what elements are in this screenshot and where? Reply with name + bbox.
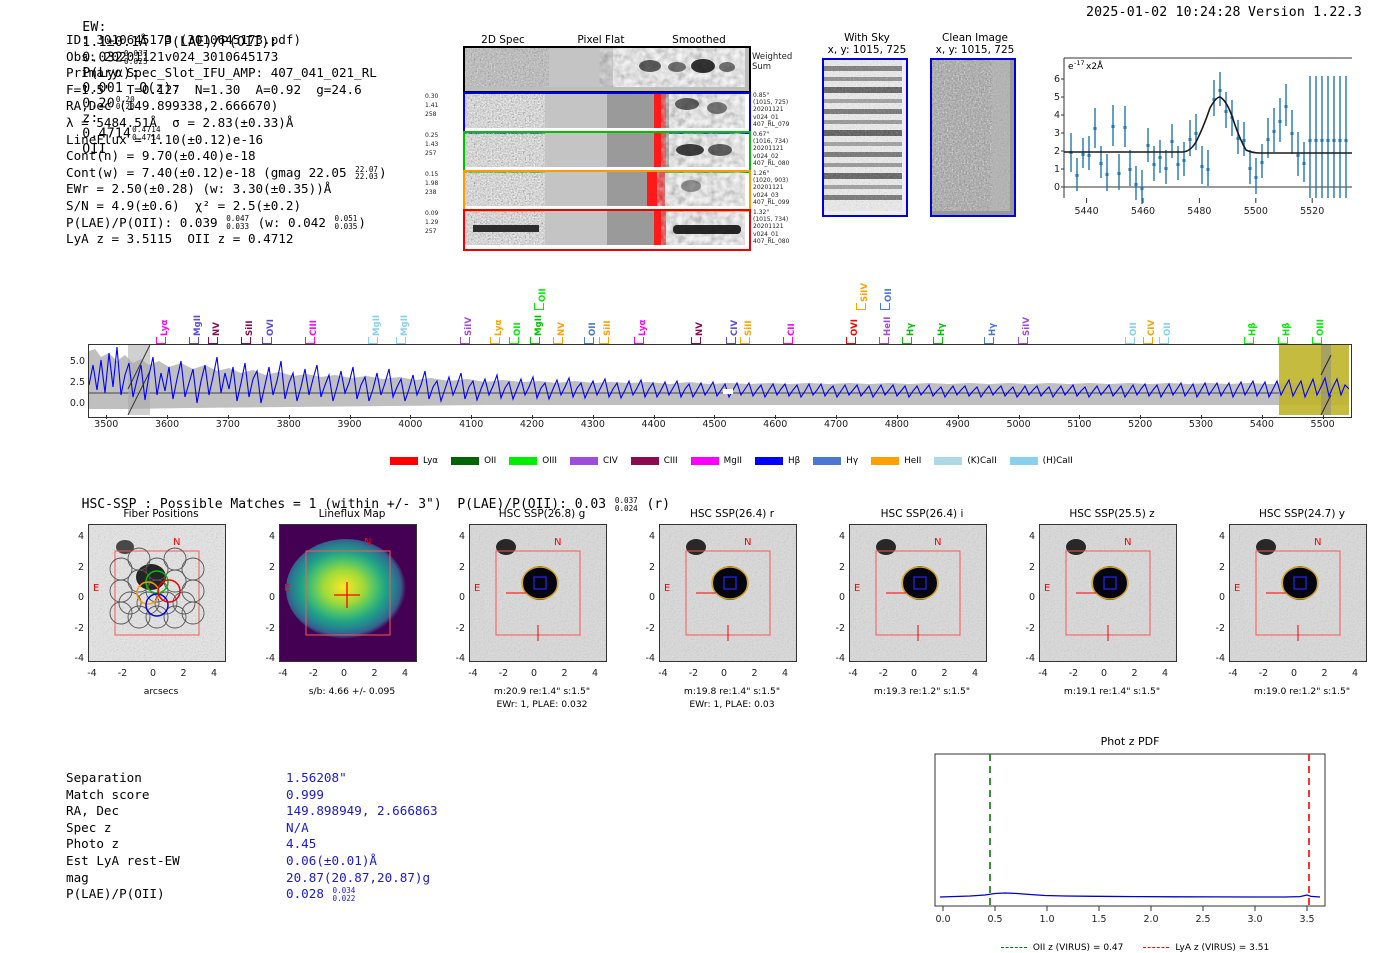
spectrum-line-marker-label: SiIV [860, 283, 870, 302]
spectrum-line-marker-bracket [902, 337, 912, 344]
fiber-meta: 0.67" (1016, 734) 20201121 v024_02 407_R… [753, 131, 789, 167]
cutout-xtick: 4 [585, 668, 605, 679]
cutout-xtick: 2 [935, 668, 955, 679]
match-table-value: 0.028 0.0340.022 [286, 886, 586, 903]
compass-e-label: E [93, 583, 99, 594]
svg-text:4: 4 [1054, 110, 1060, 121]
spectrum-xtick: 4300 [573, 419, 613, 430]
legend-swatch [509, 457, 537, 465]
cutout-xtick: -2 [304, 668, 324, 679]
spectrum-line-marker-bracket [1143, 337, 1153, 344]
compass-e-label: E [284, 583, 290, 594]
spectrum-line-marker-label: CII [787, 323, 797, 336]
cutout-xtick: -2 [874, 668, 894, 679]
svg-text:1.5: 1.5 [1091, 914, 1106, 925]
spectrum-line-marker-label: CIII [309, 320, 319, 336]
spectrum-line-marker: NV [557, 322, 567, 336]
cutout-caption: s/b: 4.66 +/- 0.095 [256, 686, 448, 697]
spectrum-line-marker: OII [884, 288, 894, 302]
cutout-xtick: 4 [775, 668, 795, 679]
cutout-ytick: 4 [65, 531, 84, 542]
cutout-ytick: -4 [446, 653, 465, 664]
match-table-value: 4.45 [286, 836, 586, 853]
match-table-value: 0.999 [286, 787, 586, 804]
cutout-ytick: 0 [636, 592, 655, 603]
cutout-ytick: -2 [1206, 623, 1225, 634]
spectrum-xticks: 3500360037003800390040004100420043004400… [88, 419, 1350, 435]
photz-svg: 0.00.51.0 1.52.02.5 3.03.5 [930, 750, 1330, 940]
match-table-key: RA, Dec [66, 803, 276, 820]
cutout-image[interactable]: NE [88, 524, 226, 662]
spectrum-line-marker-label: SiII [744, 320, 754, 336]
spectrum-line-marker: Lyα [160, 320, 170, 336]
info-line-cont-w: Cont(w) = 7.40(±0.12)e-18 (gmag 22.05 22… [66, 165, 387, 182]
cutout-ytick: -2 [1016, 623, 1035, 634]
legend-swatch [631, 457, 659, 465]
cutout-panel[interactable]: HSC SSP(26.4) rNE420-2-4-4-2024m:19.8 re… [636, 508, 828, 662]
spectrum-xtick: 4800 [877, 419, 917, 430]
spectrum-legend-item: (H)CaII [1010, 456, 1073, 466]
spectrum-line-marker-label: OVI [850, 319, 860, 336]
spectrum-xtick-mark [1323, 415, 1324, 419]
detection-info-block: ID: 3010645173 (3010645173.pdf) Obs: 202… [66, 32, 387, 248]
cutout-title: Fiber Positions [65, 508, 257, 520]
compass-e-label: E [1234, 583, 1240, 594]
info-line-lambda-sigma: λ = 5484.51Å σ = 2.83(±0.33)Å [66, 115, 387, 132]
spectrum-line-marker-bracket [553, 337, 563, 344]
cutout-xtick: 0 [334, 668, 354, 679]
spectrum-xtick: 5200 [1120, 419, 1160, 430]
cutout-image[interactable]: NE [279, 524, 417, 662]
match-table-key: Spec z [66, 820, 276, 837]
legend-label: Hβ [788, 456, 800, 466]
spectrum-line-marker-bracket [984, 337, 994, 344]
fiber-meta: 1.26" (1020, 903) 20201121 v024_03 407_R… [753, 170, 789, 206]
cutout-caption-secondary: EWr: 1, PLAE: 0.032 [446, 699, 638, 710]
spectrum-line-marker-label: MgII [193, 315, 203, 336]
spectrum-ytick-0: 0.0 [57, 398, 85, 409]
cutout-xtick: -2 [1064, 668, 1084, 679]
cutout-ytick: 4 [446, 531, 465, 542]
spectrum-line-marker: Lyα [638, 320, 648, 336]
spectrum-line-marker: MgII [534, 315, 544, 336]
spectrum-line-marker: NV [695, 322, 705, 336]
legend-swatch [755, 457, 783, 465]
weighted-sum-label: Weighted Sum [752, 52, 792, 72]
spectrum-xtick-mark [593, 415, 594, 419]
spectrum-line-marker-label: Hβ [1282, 323, 1292, 336]
fiber-meta: 1.32" (1015, 734) 20201121 v024_01 407_R… [753, 209, 789, 245]
spectrum-line-marker-bracket [368, 337, 378, 344]
legend-label: (H)CaII [1043, 456, 1073, 466]
legend-swatch [813, 457, 841, 465]
cutout-xtick: 4 [1345, 668, 1365, 679]
clean-image-coords: x, y: 1015, 725 [930, 44, 1020, 56]
spectrum-line-marker-bracket [396, 337, 406, 344]
cutout-ytick: 0 [256, 592, 275, 603]
spectrum-line-marker: SiII [245, 320, 255, 336]
legend-label: OII [484, 456, 496, 466]
cutout-ytick: 4 [1206, 531, 1225, 542]
cutout-ytick: -4 [65, 653, 84, 664]
fiber-weight: 0.09 [425, 210, 438, 217]
spectrum-line-marker-bracket [879, 337, 889, 344]
cutout-ytick: -2 [826, 623, 845, 634]
cutout-image[interactable]: NE [1229, 524, 1367, 662]
fiber-image [463, 170, 751, 212]
spectrum-line-marker-label: OII [538, 288, 548, 302]
compass-n-label: N [744, 537, 751, 548]
spectrum-xtick: 5300 [1181, 419, 1221, 430]
cutout-panel[interactable]: HSC SSP(26.8) gNE420-2-4-4-2024m:20.9 re… [446, 508, 638, 662]
cutout-caption: m:19.1 re:1.4" s:1.5" [1016, 686, 1208, 697]
cutout-ytick: 4 [826, 531, 845, 542]
spectrum-legend-item: Lyα [390, 456, 438, 466]
spectrum-line-marker: SiII [744, 320, 754, 336]
svg-text:1: 1 [1054, 164, 1060, 175]
cutout-xtick: 2 [365, 668, 385, 679]
spectrum-line-marker-bracket [634, 337, 644, 344]
legend-label: MgII [724, 456, 742, 466]
info-line-lineflux: LineFlux = 1.10(±0.12)e-16 [66, 132, 387, 149]
cutout-image[interactable]: NE [849, 524, 987, 662]
cutout-title: HSC SSP(26.8) g [446, 508, 638, 520]
spectrum-line-marker: Hγ [937, 323, 947, 336]
photz-legend: OII z (VIRUS) = 0.47LyA z (VIRUS) = 3.51 [940, 933, 1330, 953]
cutout-ytick: -2 [636, 623, 655, 634]
cutout-panel[interactable]: HSC SSP(26.4) iNE420-2-4-4-2024m:19.3 re… [826, 508, 1018, 662]
cutout-ytick: 2 [256, 562, 275, 573]
cutout-xtick: -4 [463, 668, 483, 679]
svg-text:2.0: 2.0 [1143, 914, 1158, 925]
spectrum-line-marker-label: OII [513, 322, 523, 336]
legend-swatch [934, 457, 962, 465]
cutout-xtick: 2 [1315, 668, 1335, 679]
cutout-xtick: -4 [273, 668, 293, 679]
spectrum-line-marker-label: CIV [730, 320, 740, 336]
svg-text:5: 5 [1054, 92, 1060, 103]
spectrum-legend-item: Hβ [755, 456, 800, 466]
spectrum-line-marker-bracket [584, 337, 594, 344]
spectrum-line-marker: OII [513, 322, 523, 336]
fiber-dist: 1.43 [425, 141, 438, 148]
spectrum-xtick: 4400 [634, 419, 674, 430]
spectrum-line-marker: HeII [883, 317, 893, 336]
spectrum-legend-item: OIII [509, 456, 557, 466]
match-table-key: Est LyA rest-EW [66, 853, 276, 870]
svg-text:3.5: 3.5 [1299, 914, 1314, 925]
spectrum-line-marker: SiII [603, 320, 613, 336]
cutout-xtick: -4 [82, 668, 102, 679]
compass-n-label: N [364, 537, 371, 548]
with-sky-panel: With Sky x, y: 1015, 725 [822, 32, 912, 217]
spectrum-xtick: 4000 [390, 419, 430, 430]
match-table-value: N/A [286, 820, 586, 837]
spectrum-line-marker-label: SiIV [464, 317, 474, 336]
spectrum-line-marker-bracket [740, 337, 750, 344]
spectrum-line-marker: SiIV [464, 317, 474, 336]
legend-label: OIII [542, 456, 557, 466]
info-line-cont-n: Cont(n) = 9.70(±0.40)e-18 [66, 148, 387, 165]
spectrum-line-marker: CII [787, 323, 797, 336]
spectrum-line-marker-label: NV [695, 322, 705, 336]
spectrum-xtick-mark [532, 415, 533, 419]
fiber-num: 238 [425, 189, 436, 196]
cutout-ytick: 0 [1206, 592, 1225, 603]
spectrum-line-marker-bracket [189, 337, 199, 344]
photz-panel: Phot z PDF 0.00.51.0 1.52.02.5 3.03.5 OI… [930, 735, 1330, 945]
fiber-weight: 0.15 [425, 171, 438, 178]
fiber-image [463, 92, 751, 134]
cutout-caption-secondary: EWr: 1, PLAE: 0.03 [636, 699, 828, 710]
cutout-xtick: 2 [1125, 668, 1145, 679]
spectrum-error-band [89, 349, 1349, 409]
legend-label: CIII [664, 456, 678, 466]
svg-text:3: 3 [1054, 128, 1060, 139]
cutout-image[interactable]: NE [469, 524, 607, 662]
spectrum-xtick-mark [714, 415, 715, 419]
spectrum-line-marker: OII [588, 322, 598, 336]
cutout-caption: m:20.9 re:1.4" s:1.5" [446, 686, 638, 697]
spectrum-xtick-mark [167, 415, 168, 419]
legend-swatch [1010, 457, 1038, 465]
legend-label: (K)CaII [967, 456, 996, 466]
compass-e-label: E [1044, 583, 1050, 594]
info-line-obs: Obs: 20201121v024_3010645173 [66, 49, 387, 66]
spectrum-xtick: 4700 [816, 419, 856, 430]
cutout-ytick: -4 [256, 653, 275, 664]
match-table-key: P(LAE)/P(OII) [66, 886, 276, 903]
svg-text:5480: 5480 [1187, 206, 1211, 217]
spectrum-svg [89, 345, 1349, 415]
spectrum-legend-item: CIII [631, 456, 678, 466]
spectrum-xtick: 3700 [208, 419, 248, 430]
cutout-xtick: -2 [1254, 668, 1274, 679]
spectrum-line-marker: OVI [266, 319, 276, 336]
svg-text:3.0: 3.0 [1247, 914, 1262, 925]
cutout-title: Lineflux Map [256, 508, 448, 520]
spectrum-ytick-2p5: 2.5 [57, 377, 85, 388]
spectrum-legend-item: Hγ [813, 456, 858, 466]
info-line-radec: RA,Dec (149.899338,2.666670) [66, 98, 387, 115]
fiber-image [463, 209, 751, 251]
cutout-xtick: -2 [494, 668, 514, 679]
legend-swatch [570, 457, 598, 465]
spectrum-ytick-5: 5.0 [57, 356, 85, 367]
spectrum-xtick: 3800 [269, 419, 309, 430]
info-line-plae: P(LAE)/P(OII): 0.039 0.0470.033 (w: 0.04… [66, 215, 387, 232]
fiber-weight: 0.25 [425, 132, 438, 139]
match-table-value: 20.87(20.87,20.87)g [286, 870, 586, 887]
spectrum-legend-item: MgII [691, 456, 742, 466]
spectrum-line-marker-label: NV [212, 322, 222, 336]
cutout-panel[interactable]: HSC SSP(24.7) yNE420-2-4-4-2024m:19.0 re… [1206, 508, 1398, 662]
cutout-xtick: 2 [555, 668, 575, 679]
cutout-ytick: 0 [826, 592, 845, 603]
fiber-weight: 0.30 [425, 93, 438, 100]
cutout-panel[interactable]: Fiber PositionsNE420-2-4-4-2024arcsecs [65, 508, 257, 662]
match-table-keys: SeparationMatch scoreRA, DecSpec zPhoto … [66, 770, 276, 903]
spectrum-line-marker: OII [1129, 322, 1139, 336]
spectrum-line-marker: MgII [193, 315, 203, 336]
spectrum-line-marker-bracket [1278, 337, 1288, 344]
spectrum-line-marker: SiIV [1022, 317, 1032, 336]
spec2d-col-title-smoothed: Smoothed [651, 34, 747, 46]
legend-swatch [691, 457, 719, 465]
svg-text:0: 0 [1054, 182, 1060, 193]
fiber-dist: 1.98 [425, 180, 438, 187]
compass-n-label: N [1314, 537, 1321, 548]
cutout-ytick: -2 [446, 623, 465, 634]
match-table-key: Photo z [66, 836, 276, 853]
fiber-num: 257 [425, 150, 436, 157]
svg-text:0.5: 0.5 [987, 914, 1002, 925]
cutout-ytick: 2 [636, 562, 655, 573]
spectrum-line-marker: CIII [309, 320, 319, 336]
svg-text:2.5: 2.5 [1195, 914, 1210, 925]
cutout-xtick: 0 [904, 668, 924, 679]
cutout-xtick: 4 [965, 668, 985, 679]
spectrum-line-marker-label: Lyα [638, 320, 648, 336]
fiber-num: 257 [425, 228, 436, 235]
spectrum-xtick-mark [350, 415, 351, 419]
spectrum-line-marker-bracket [305, 337, 315, 344]
cutout-ytick: 4 [636, 531, 655, 542]
spectrum-line-marker-bracket [490, 337, 500, 344]
spectrum-xtick: 3900 [330, 419, 370, 430]
spectrum-line-marker-bracket [534, 303, 544, 310]
spectrum-legend-item: HeII [871, 456, 921, 466]
info-line-primary-spec: Primary Spec_Slot_IFU_AMP: 407_041_021_R… [66, 65, 387, 82]
cutout-image[interactable]: NE [659, 524, 797, 662]
spectrum-axes [88, 344, 1352, 418]
spectrum-xtick-mark [106, 415, 107, 419]
cutout-xtick: 0 [1284, 668, 1304, 679]
info-line-params: F=1.5" T=0.127 N=1.30 A=0.92 g=24.6 [66, 82, 387, 99]
spectrum-legend-item: (K)CaII [934, 456, 996, 466]
spectrum-line-marker-label: MgII [534, 315, 544, 336]
cutout-ytick: 2 [446, 562, 465, 573]
cutout-image[interactable]: NE [1039, 524, 1177, 662]
spectrum-line-marker: Hβ [1248, 323, 1258, 336]
spectrum-xtick-mark [654, 415, 655, 419]
cutout-ytick: 4 [1016, 531, 1035, 542]
spectrum-line-marker-bracket [1312, 337, 1322, 344]
cutout-caption: arcsecs [65, 686, 257, 697]
spectrum-line-marker-label: Lyα [160, 320, 170, 336]
spectrum-line-marker-bracket [1159, 337, 1169, 344]
svg-text:5500: 5500 [1244, 206, 1268, 217]
spectrum-line-marker-label: CIV [1147, 320, 1157, 336]
spectrum-line-marker-bracket [933, 337, 943, 344]
cutout-xtick: 4 [395, 668, 415, 679]
cutout-title: HSC SSP(25.5) z [1016, 508, 1208, 520]
spectrum-line-marker-label: NV [557, 322, 567, 336]
spectrum-line-marker-label: MgII [400, 315, 410, 336]
spectrum-line-marker-label: MgII [372, 315, 382, 336]
spectrum-xtick-mark [836, 415, 837, 419]
cutout-xtick: 4 [1155, 668, 1175, 679]
spectrum-line-marker-bracket [691, 337, 701, 344]
legend-swatch [871, 457, 899, 465]
cutout-xtick: 2 [174, 668, 194, 679]
spectrum-line-marker-bracket [599, 337, 609, 344]
cutout-panel[interactable]: HSC SSP(25.5) zNE420-2-4-4-2024m:19.1 re… [1016, 508, 1208, 662]
with-sky-title: With Sky [822, 32, 912, 44]
spectrum-line-marker-label: SiII [603, 320, 613, 336]
cutout-panel[interactable]: Lineflux MapNE420-2-4-4-2024s/b: 4.66 +/… [256, 508, 448, 662]
spectrum-legend-item: CIV [570, 456, 618, 466]
spectrum-line-marker-label: OVI [266, 319, 276, 336]
cutout-ytick: -4 [1206, 653, 1225, 664]
cutout-caption: m:19.8 re:1.4" s:1.5" [636, 686, 828, 697]
spectrum-line-marker: OII [538, 288, 548, 302]
cutout-ytick: 2 [1206, 562, 1225, 573]
spectrum-xtick: 4100 [451, 419, 491, 430]
photz-legend-label: OII z (VIRUS) = 0.47 [1033, 943, 1124, 953]
spectrum-line-marker-label: Hγ [937, 323, 947, 336]
spectrum-line-marker-label: OIII [1316, 319, 1326, 336]
spectrum-line-marker-label: OII [588, 322, 598, 336]
cutout-xtick: -2 [113, 668, 133, 679]
compass-e-label: E [854, 583, 860, 594]
photz-legend-dash [1001, 947, 1027, 948]
line-fit-plot: e -17 x2Å 012 3456 544054605480 55005520 [1036, 52, 1366, 227]
svg-text:5440: 5440 [1075, 206, 1099, 217]
spec2d-col-title-2dspec: 2D Spec [455, 34, 551, 46]
spectrum-line-marker-bracket [783, 337, 793, 344]
spectrum-xtick: 5500 [1303, 419, 1343, 430]
spectrum-line-marker-bracket [726, 337, 736, 344]
cutout-ytick: -2 [256, 623, 275, 634]
spectrum-legend-item: OII [451, 456, 496, 466]
match-table-values: 1.56208"0.999149.898949, 2.666863N/A4.45… [286, 770, 586, 903]
spectrum-line-marker-label: Lyα [494, 320, 504, 336]
svg-text:0.0: 0.0 [935, 914, 950, 925]
cutout-ytick: 4 [256, 531, 275, 542]
legend-label: CIV [603, 456, 618, 466]
cutout-xtick: -4 [1033, 668, 1053, 679]
cutout-xtick: 0 [143, 668, 163, 679]
compass-n-label: N [934, 537, 941, 548]
spectrum-line-marker: OVI [850, 319, 860, 336]
spectrum-line-marker: CIV [730, 320, 740, 336]
spectrum-xtick-mark [228, 415, 229, 419]
match-table-key: Match score [66, 787, 276, 804]
cutout-xtick: -4 [843, 668, 863, 679]
match-table-key: Separation [66, 770, 276, 787]
svg-text:1.0: 1.0 [1039, 914, 1054, 925]
spectrum-line-marker: NV [212, 322, 222, 336]
spectrum-line-marker-bracket [509, 337, 519, 344]
spectrum-xtick-mark [1140, 415, 1141, 419]
spectrum-line-marker-bracket [156, 337, 166, 344]
cutout-xtick: -2 [684, 668, 704, 679]
compass-n-label: N [173, 537, 180, 548]
spectrum-line-marker: OIII [1316, 319, 1326, 336]
match-table-key: mag [66, 870, 276, 887]
photz-legend-item: LyA z (VIRUS) = 3.51 [1143, 943, 1269, 953]
spectrum-line-marker-bracket [880, 303, 890, 310]
cutout-caption: m:19.3 re:1.2" s:1.5" [826, 686, 1018, 697]
spectrum-line-marker: OII [1163, 322, 1173, 336]
spectrum-xtick: 5400 [1242, 419, 1282, 430]
cutout-ytick: -4 [826, 653, 845, 664]
clean-image-image [930, 58, 1016, 217]
cutout-caption: m:19.0 re:1.2" s:1.5" [1206, 686, 1398, 697]
spectrum-xtick-mark [289, 415, 290, 419]
fiber-num: 258 [425, 111, 436, 118]
